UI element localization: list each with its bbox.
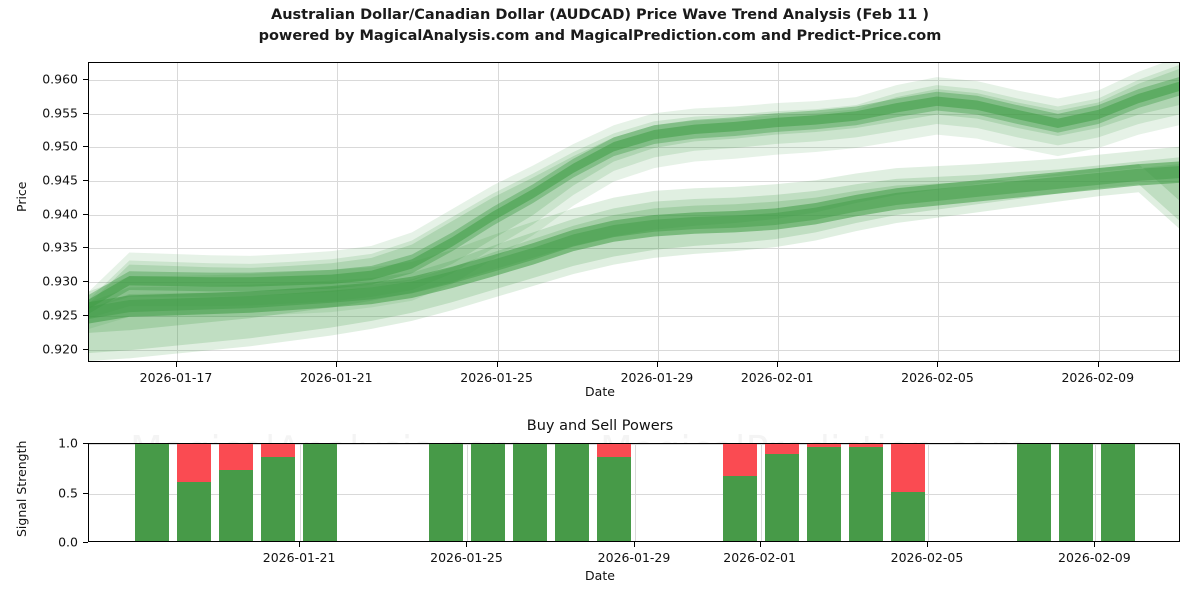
price-y-tick-label: 0.935 xyxy=(42,240,78,255)
price-y-tick-label: 0.925 xyxy=(42,307,78,322)
price-y-tick-label: 0.940 xyxy=(42,206,78,221)
tick-mark xyxy=(83,281,88,282)
buy-power-bar xyxy=(891,492,925,542)
buy-power-bar xyxy=(807,447,841,541)
bars-y-axis-label: Signal Strength xyxy=(14,441,29,537)
tick-mark xyxy=(83,349,88,350)
buy-power-bar xyxy=(261,457,295,541)
tick-mark xyxy=(83,542,88,543)
price-y-tick-label: 0.930 xyxy=(42,274,78,289)
tick-mark xyxy=(176,362,177,367)
tick-mark xyxy=(1098,362,1099,367)
buy-power-bar xyxy=(1017,443,1051,541)
sell-power-bar xyxy=(219,443,253,470)
buy-power-bar xyxy=(429,443,463,541)
sell-power-bar xyxy=(849,443,883,447)
bars-x-tick-label: 2026-01-21 xyxy=(263,550,336,565)
sell-power-bar xyxy=(177,443,211,482)
tick-mark xyxy=(466,542,467,547)
tick-mark xyxy=(83,247,88,248)
gridline xyxy=(1095,444,1096,541)
buy-power-bar xyxy=(177,482,211,541)
tick-mark xyxy=(83,113,88,114)
buy-power-bar xyxy=(1101,443,1135,541)
price-y-tick-label: 0.950 xyxy=(42,139,78,154)
bars-x-tick-label: 2026-01-29 xyxy=(598,550,671,565)
sell-power-bar xyxy=(807,443,841,447)
buy-sell-powers-chart xyxy=(88,443,1180,542)
title-line-secondary: powered by MagicalAnalysis.com and Magic… xyxy=(0,26,1200,47)
price-x-axis-label: Date xyxy=(585,384,615,399)
tick-mark xyxy=(83,315,88,316)
price-x-tick-label: 2026-02-09 xyxy=(1061,370,1134,385)
buy-power-bar xyxy=(555,443,589,541)
tick-mark xyxy=(777,362,778,367)
price-y-tick-label: 0.955 xyxy=(42,105,78,120)
sell-power-bar xyxy=(891,443,925,492)
bars-y-tick-label: 1.0 xyxy=(58,436,78,451)
gridline xyxy=(300,444,301,541)
buy-power-bar xyxy=(765,454,799,541)
price-y-tick-label: 0.920 xyxy=(42,341,78,356)
price-y-axis-label: Price xyxy=(14,182,29,213)
buy-power-bar xyxy=(471,443,505,541)
buy-power-bar xyxy=(597,457,631,541)
bars-x-tick-label: 2026-01-25 xyxy=(430,550,503,565)
tick-mark xyxy=(760,542,761,547)
buy-power-bar xyxy=(1059,443,1093,541)
tick-mark xyxy=(83,79,88,80)
tick-mark xyxy=(83,180,88,181)
tick-mark xyxy=(657,362,658,367)
price-wave-chart xyxy=(88,62,1180,362)
buy-power-bar xyxy=(723,476,757,541)
buy-power-bar xyxy=(219,470,253,541)
price-wave-bands xyxy=(89,63,1179,361)
gridline xyxy=(761,444,762,541)
page-title: Australian Dollar/Canadian Dollar (AUDCA… xyxy=(0,5,1200,47)
bars-x-tick-label: 2026-02-01 xyxy=(723,550,796,565)
price-y-tick-label: 0.945 xyxy=(42,172,78,187)
tick-mark xyxy=(927,542,928,547)
sell-power-bar xyxy=(723,443,757,476)
gridline xyxy=(467,444,468,541)
tick-mark xyxy=(83,146,88,147)
buy-power-bar xyxy=(513,443,547,541)
title-line-primary: Australian Dollar/Canadian Dollar (AUDCA… xyxy=(0,5,1200,26)
sell-power-bar xyxy=(597,443,631,457)
price-x-tick-label: 2026-01-29 xyxy=(621,370,694,385)
bars-x-tick-label: 2026-02-09 xyxy=(1058,550,1131,565)
tick-mark xyxy=(937,362,938,367)
chart-page: Australian Dollar/Canadian Dollar (AUDCA… xyxy=(0,0,1200,600)
tick-mark xyxy=(83,443,88,444)
price-x-tick-label: 2026-02-01 xyxy=(741,370,814,385)
price-x-tick-label: 2026-02-05 xyxy=(901,370,974,385)
bars-x-axis-label: Date xyxy=(585,568,615,583)
buy-power-bar xyxy=(303,443,337,541)
buy-power-bar xyxy=(135,443,169,541)
gridline xyxy=(635,444,636,541)
tick-mark xyxy=(634,542,635,547)
buy-power-bar xyxy=(849,447,883,541)
tick-mark xyxy=(336,362,337,367)
tick-mark xyxy=(1094,542,1095,547)
tick-mark xyxy=(83,214,88,215)
bars-x-tick-label: 2026-02-05 xyxy=(891,550,964,565)
price-x-tick-label: 2026-01-25 xyxy=(460,370,533,385)
sell-power-bar xyxy=(261,443,295,457)
price-x-tick-label: 2026-01-21 xyxy=(300,370,373,385)
tick-mark xyxy=(299,542,300,547)
price-x-tick-label: 2026-01-17 xyxy=(140,370,213,385)
gridline xyxy=(928,444,929,541)
bars-y-tick-label: 0.5 xyxy=(58,485,78,500)
price-y-tick-label: 0.960 xyxy=(42,71,78,86)
bars-chart-title: Buy and Sell Powers xyxy=(527,418,673,434)
bars-y-tick-label: 0.0 xyxy=(58,535,78,550)
tick-mark xyxy=(83,493,88,494)
tick-mark xyxy=(497,362,498,367)
sell-power-bar xyxy=(765,443,799,454)
